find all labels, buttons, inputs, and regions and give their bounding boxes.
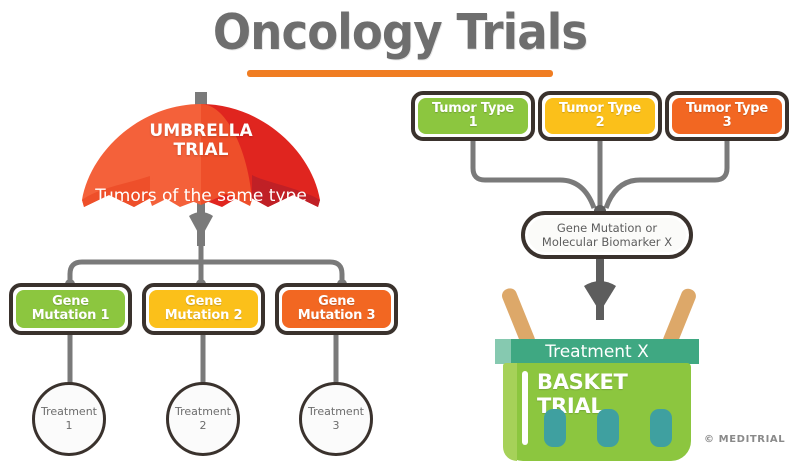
- page-title: Oncology Trials: [32, 4, 768, 61]
- gene-1-line2: Mutation 1: [32, 308, 110, 323]
- tumor-1-line1: Tumor Type: [432, 101, 514, 116]
- gene-2-line1: Gene: [185, 294, 222, 309]
- treatment-3-line1: Treatment: [308, 405, 364, 418]
- treatment-circle-2[interactable]: Treatment 2: [166, 382, 240, 456]
- gene-to-treatment-connectors: [70, 335, 336, 384]
- treatment-2-line2: 2: [199, 419, 206, 432]
- treatment-1-line1: Treatment: [41, 405, 97, 418]
- tumor-1-line2: 1: [469, 115, 478, 130]
- title-underline: [247, 70, 553, 77]
- tumor-type-box-1-label: Tumor Type 1: [418, 98, 528, 134]
- basket-band-highlight: [495, 339, 511, 364]
- tumor-2-line1: Tumor Type: [559, 101, 641, 116]
- copyright-credit: © MEDITRIAL: [704, 434, 785, 445]
- treatment-circle-1[interactable]: Treatment 1: [32, 382, 106, 456]
- basket-treatment-band: Treatment X: [495, 339, 699, 364]
- umbrella-shaft: [197, 200, 205, 246]
- tumor-type-box-1[interactable]: Tumor Type 1: [411, 91, 535, 141]
- treatment-circle-3[interactable]: Treatment 3: [299, 382, 373, 456]
- biomarker-node[interactable]: Gene Mutation or Molecular Biomarker X: [521, 211, 693, 259]
- basket-band-label: Treatment X: [545, 342, 649, 362]
- biomarker-line1: Gene Mutation or: [557, 221, 657, 235]
- umbrella-title-line2: TRIAL: [101, 141, 301, 160]
- tumor-3-line2: 3: [723, 115, 732, 130]
- diagram-canvas: Oncology Trials: [0, 0, 800, 475]
- gene-1-line1: Gene: [52, 294, 89, 309]
- tumor-type-box-3[interactable]: Tumor Type 3: [665, 91, 789, 141]
- gene-mutation-box-1-label: Gene Mutation 1: [16, 290, 125, 328]
- umbrella-connectors: [70, 246, 342, 283]
- basket-accent-stripe: [522, 371, 528, 445]
- gene-mutation-box-2[interactable]: Gene Mutation 2: [142, 283, 265, 335]
- gene-2-line2: Mutation 2: [165, 308, 243, 323]
- gene-mutation-box-3[interactable]: Gene Mutation 3: [275, 283, 398, 335]
- tumor-type-box-2-label: Tumor Type 2: [545, 98, 655, 134]
- gene-mutation-box-3-label: Gene Mutation 3: [282, 290, 391, 328]
- treatment-1-line2: 1: [65, 419, 72, 432]
- basket-slot-2: [597, 409, 619, 447]
- umbrella-title-line1: UMBRELLA: [101, 122, 301, 141]
- umbrella-title: UMBRELLA TRIAL: [101, 122, 301, 160]
- gene-3-line1: Gene: [318, 294, 355, 309]
- tumor-type-box-2[interactable]: Tumor Type 2: [538, 91, 662, 141]
- basket-slot-3: [650, 409, 672, 447]
- basket-stem: [584, 259, 616, 320]
- treatment-2-line1: Treatment: [175, 405, 231, 418]
- tumor-3-line1: Tumor Type: [686, 101, 768, 116]
- umbrella-subtitle: Tumors of the same type: [61, 186, 341, 206]
- gene-mutation-box-2-label: Gene Mutation 2: [149, 290, 258, 328]
- umbrella-ferrule: [189, 212, 213, 238]
- umbrella-top-stick: [195, 92, 207, 122]
- treatment-3-line2: 3: [332, 419, 339, 432]
- biomarker-label: Gene Mutation or Molecular Biomarker X: [528, 218, 686, 252]
- gene-3-line2: Mutation 3: [298, 308, 376, 323]
- basket-body-highlight: [503, 363, 517, 461]
- biomarker-line2: Molecular Biomarker X: [542, 235, 672, 249]
- gene-mutation-box-1[interactable]: Gene Mutation 1: [9, 283, 132, 335]
- tumor-connectors: [473, 141, 727, 208]
- basket-body[interactable]: BASKET TRIAL: [503, 363, 691, 461]
- basket-slot-1: [544, 409, 566, 447]
- tumor-type-box-3-label: Tumor Type 3: [672, 98, 782, 134]
- tumor-2-line2: 2: [596, 115, 605, 130]
